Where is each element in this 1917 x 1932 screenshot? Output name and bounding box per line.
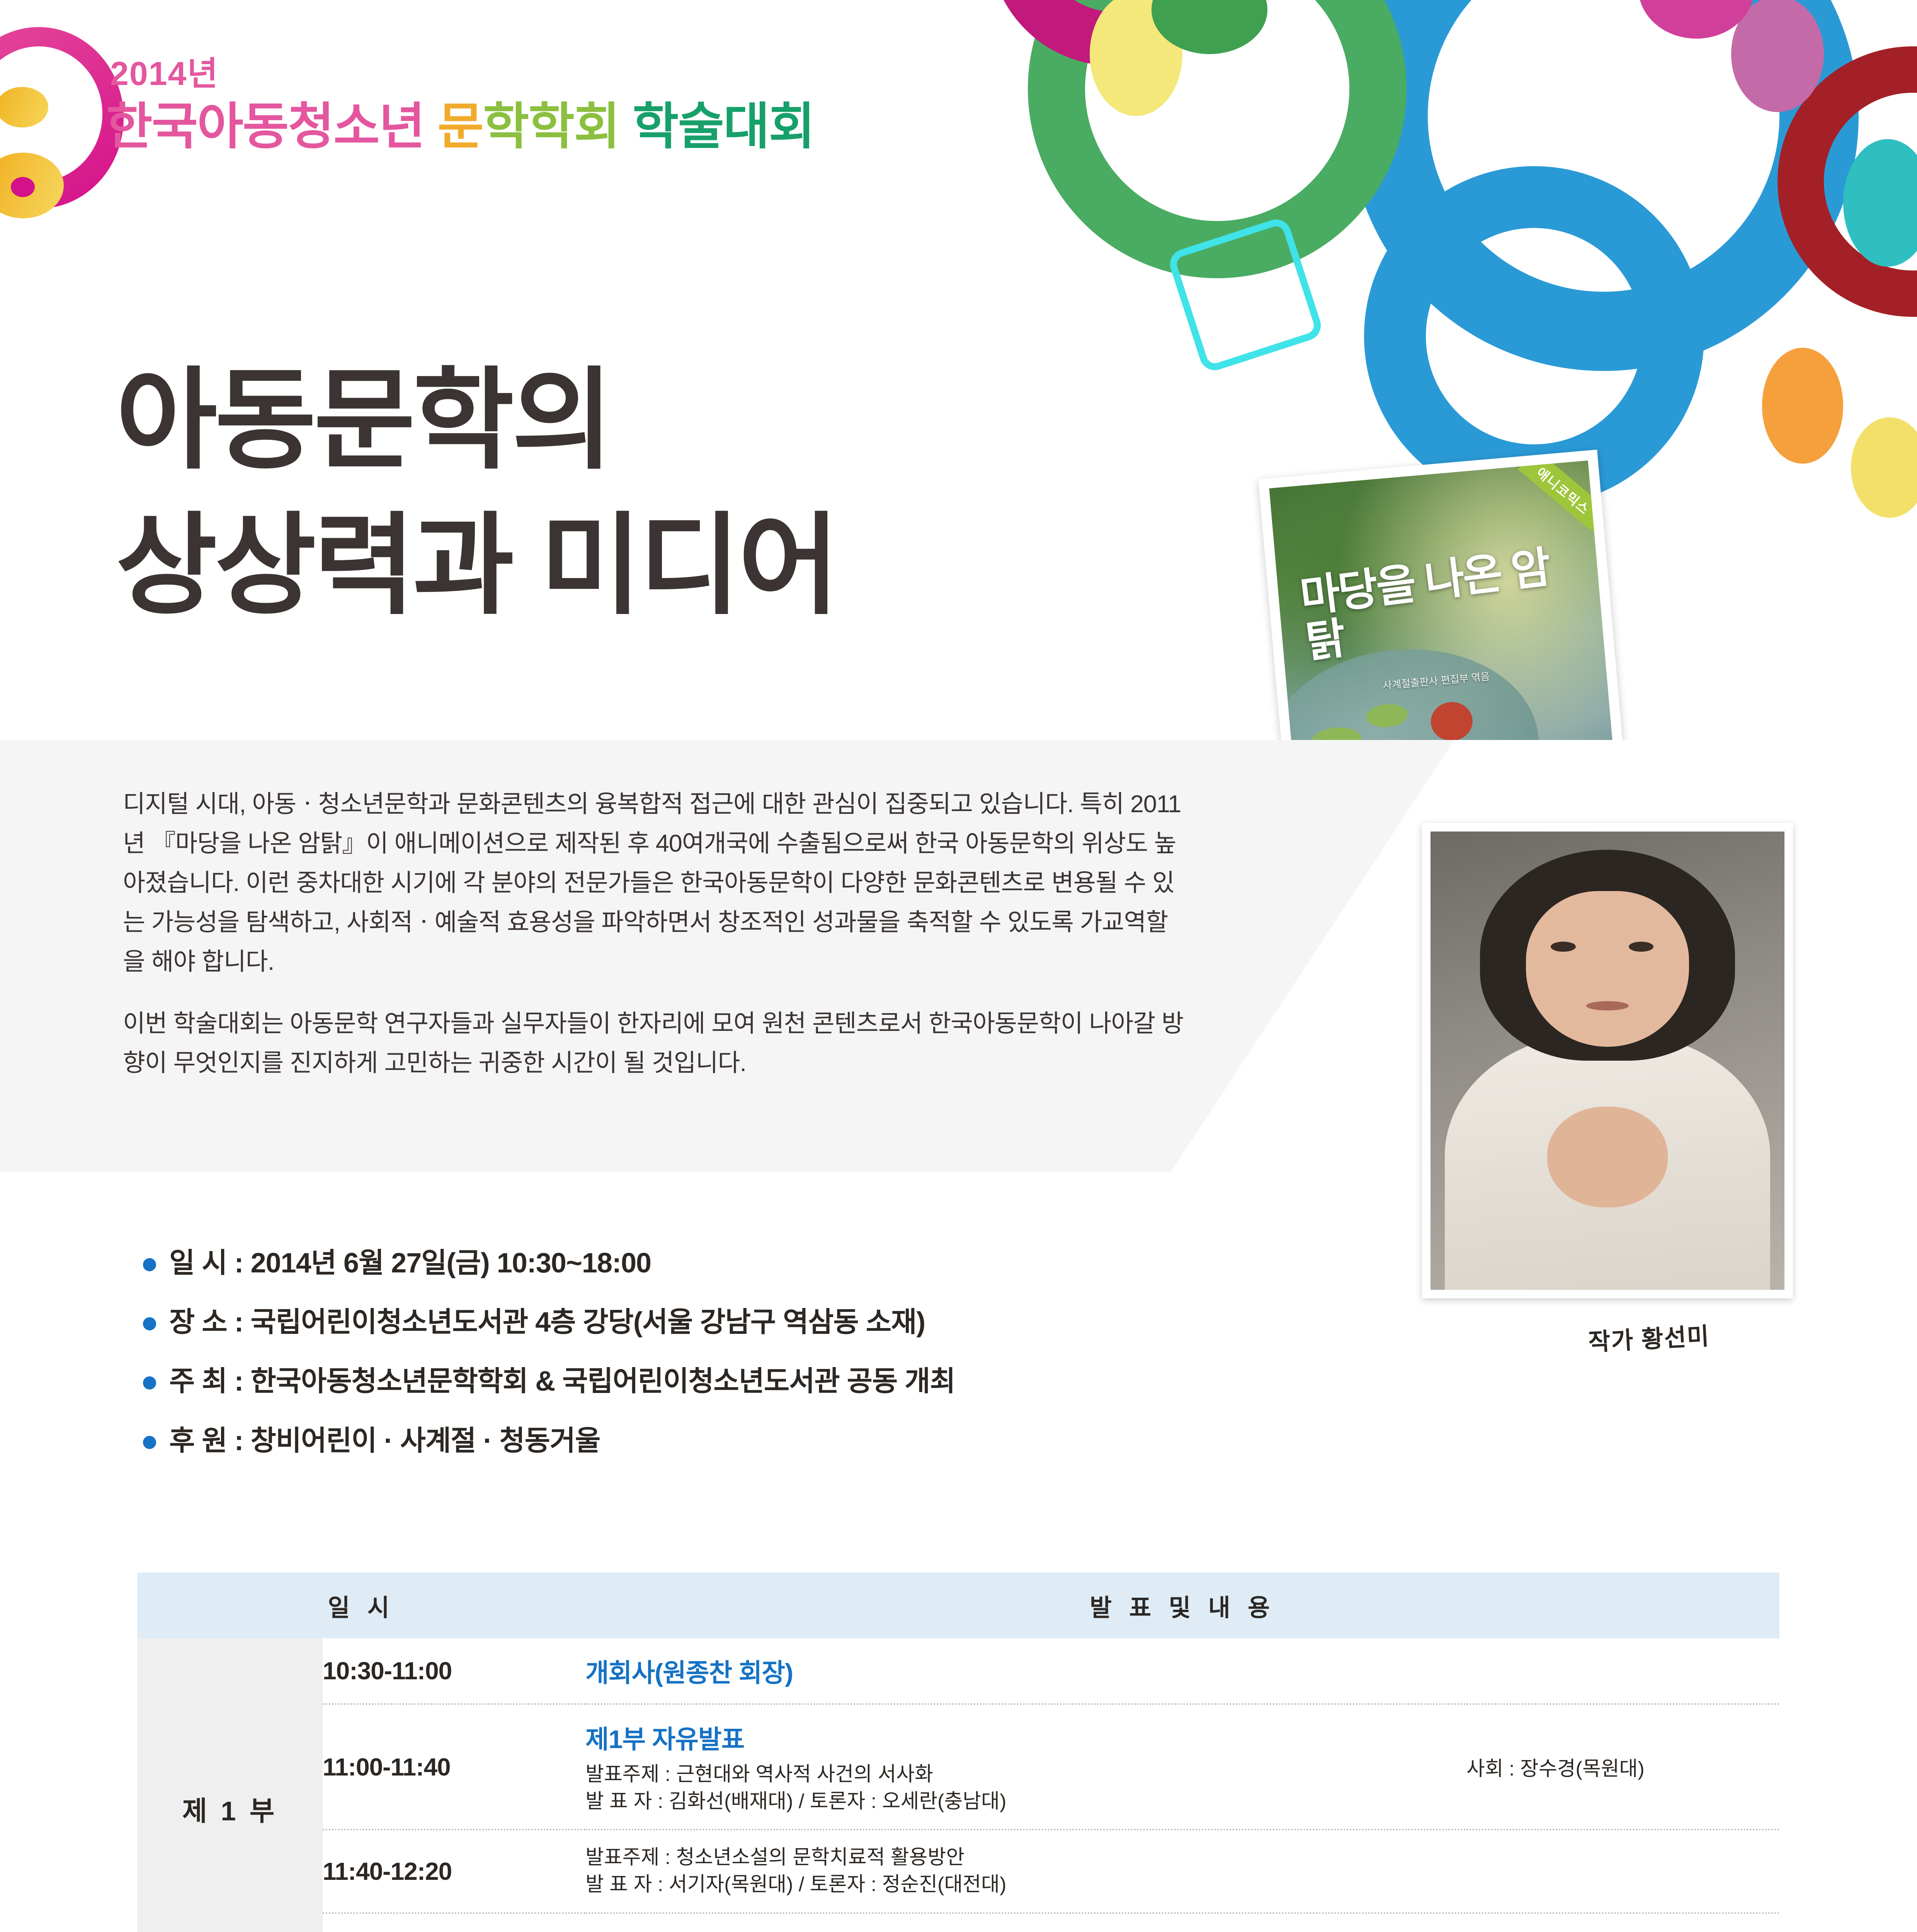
info-item-date-text: 일 시 : 2014년 6월 27일(금) 10:30~18:00 bbox=[169, 1248, 651, 1279]
row-time: 10:30-11:00 bbox=[323, 1638, 585, 1704]
book-title-text: 마당을 나온 암탉 bbox=[1298, 541, 1582, 665]
blue-ring-large bbox=[1349, 0, 1859, 371]
row-highlight: 제1부 자유발표 bbox=[585, 1719, 1466, 1756]
table-row: 12:20-13:40 점심 식사 bbox=[137, 1913, 1779, 1932]
info-item-venue-text: 장 소 : 국립어린이청소년도서관 4층 강당(서울 강남구 역삼동 소재) bbox=[169, 1307, 925, 1338]
row-chair bbox=[1466, 1830, 1779, 1913]
poster-title-line1: 아동문학의 bbox=[116, 348, 837, 493]
row-content: 제1부 자유발표 발표주제 : 근현대와 역사적 사건의 서사화 발 표 자 :… bbox=[585, 1704, 1466, 1830]
part-label-1: 제 1 부 bbox=[137, 1638, 323, 1932]
row-line-1: 발표주제 : 청소년소설의 문학치료적 활용방안 bbox=[585, 1844, 1466, 1871]
association-seg-4: 학술대회 bbox=[619, 98, 815, 155]
author-face bbox=[1526, 891, 1689, 1047]
bullet-icon bbox=[143, 1258, 156, 1271]
row-line-2: 발 표 자 : 서기자(목원대) / 토론자 : 정순진(대전대) bbox=[585, 1871, 1466, 1898]
yellow-blob bbox=[1090, 0, 1182, 116]
info-item-sponsor-text: 후 원 : 창비어린이 · 사계절 · 청동거울 bbox=[169, 1426, 600, 1456]
teal-blob bbox=[1843, 139, 1917, 267]
green-ring bbox=[1028, 0, 1407, 278]
association-seg-2: 문 bbox=[424, 98, 483, 155]
row-chair bbox=[1466, 1913, 1779, 1932]
row-content: 발표주제 : 청소년소설의 문학치료적 활용방안 발 표 자 : 서기자(목원대… bbox=[585, 1830, 1466, 1913]
association-title: 한국아동청소년 문학학회 학술대회 bbox=[106, 86, 814, 158]
bullet-icon bbox=[143, 1376, 156, 1389]
book-ribbon-label: 애니코믹스 bbox=[1518, 461, 1610, 532]
poster-title-line2: 상상력과 미디어 bbox=[116, 493, 837, 638]
row-time: 12:20-13:40 bbox=[323, 1913, 585, 1932]
row-time: 11:40-12:20 bbox=[323, 1830, 585, 1913]
cyan-square-outline bbox=[1166, 216, 1325, 374]
author-mouth bbox=[1586, 1001, 1629, 1010]
magenta-ring bbox=[989, 0, 1237, 66]
table-row: 11:40-12:20 발표주제 : 청소년소설의 문학치료적 활용방안 발 표… bbox=[137, 1830, 1779, 1913]
info-item-sponsor: 후 원 : 창비어린이 · 사계절 · 청동거울 bbox=[143, 1426, 1727, 1456]
association-seg-1: 한국아동청소년 bbox=[106, 98, 424, 155]
info-item-host-text: 주 최 : 한국아동청소년문학학회 & 국립어린이청소년도서관 공동 개최 bbox=[169, 1366, 955, 1397]
yellow-blob-right bbox=[1851, 417, 1917, 518]
bullet-icon bbox=[143, 1436, 156, 1449]
association-seg-3: 학학회 bbox=[483, 98, 619, 155]
row-chair bbox=[1466, 1638, 1779, 1704]
author-photo bbox=[1422, 823, 1793, 1298]
orange-blob bbox=[1762, 348, 1843, 464]
intro-paragraph-1: 디지털 시대, 아동ㆍ청소년문학과 문화콘텐츠의 융복합적 접근에 대한 관심이… bbox=[123, 784, 1189, 981]
intro-text: 디지털 시대, 아동ㆍ청소년문학과 문화콘텐츠의 융복합적 접근에 대한 관심이… bbox=[123, 784, 1189, 1083]
author-eye-right bbox=[1629, 942, 1653, 952]
row-time: 11:00-11:40 bbox=[323, 1704, 585, 1830]
author-portrait bbox=[1431, 832, 1784, 1290]
table-row: 제 1 부 10:30-11:00 개회사(원종찬 회장) bbox=[137, 1638, 1779, 1704]
table-row: 11:00-11:40 제1부 자유발표 발표주제 : 근현대와 역사적 사건의… bbox=[137, 1704, 1779, 1830]
row-highlight: 개회사(원종찬 회장) bbox=[585, 1652, 1466, 1689]
row-content: 개회사(원종찬 회장) bbox=[585, 1638, 1466, 1704]
bullet-icon bbox=[143, 1317, 156, 1330]
schedule-header-content: 발 표 및 내 용 bbox=[585, 1573, 1779, 1638]
logo-dot-lower-hole bbox=[11, 177, 35, 197]
row-highlight: 점심 식사 bbox=[585, 1928, 1466, 1932]
row-chair: 사회 : 장수경(목원대) bbox=[1466, 1704, 1779, 1830]
info-item-date: 일 시 : 2014년 6월 27일(금) 10:30~18:00 bbox=[143, 1248, 1727, 1279]
schedule-header-time: 일 시 bbox=[137, 1573, 585, 1638]
author-hands bbox=[1547, 1107, 1667, 1207]
info-item-host: 주 최 : 한국아동청소년문학학회 & 국립어린이청소년도서관 공동 개최 bbox=[143, 1366, 1727, 1397]
author-eye-left bbox=[1551, 942, 1575, 952]
schedule-table: 일 시 발 표 및 내 용 제 1 부 10:30-11:00 개회사(원종찬 … bbox=[137, 1573, 1779, 1932]
poster-title: 아동문학의 상상력과 미디어 bbox=[116, 348, 837, 638]
pink-blob bbox=[1731, 0, 1824, 112]
row-line-1: 발표주제 : 근현대와 역사적 사건의 서사화 bbox=[585, 1761, 1466, 1788]
schedule-header-row: 일 시 발 표 및 내 용 bbox=[137, 1573, 1779, 1638]
red-ring bbox=[1778, 46, 1917, 317]
green-blob bbox=[1152, 0, 1267, 54]
intro-paragraph-2: 이번 학술대회는 아동문학 연구자들과 실무자들이 한자리에 모여 원천 콘텐츠… bbox=[123, 1004, 1189, 1083]
row-line-2: 발 표 자 : 김화선(배재대) / 토론자 : 오세란(충남대) bbox=[585, 1788, 1466, 1815]
magenta-blob bbox=[1638, 0, 1754, 39]
row-content: 점심 식사 bbox=[585, 1913, 1466, 1932]
event-info-list: 일 시 : 2014년 6월 27일(금) 10:30~18:00 장 소 : … bbox=[143, 1248, 1727, 1485]
info-item-venue: 장 소 : 국립어린이청소년도서관 4층 강당(서울 강남구 역삼동 소재) bbox=[143, 1307, 1727, 1338]
